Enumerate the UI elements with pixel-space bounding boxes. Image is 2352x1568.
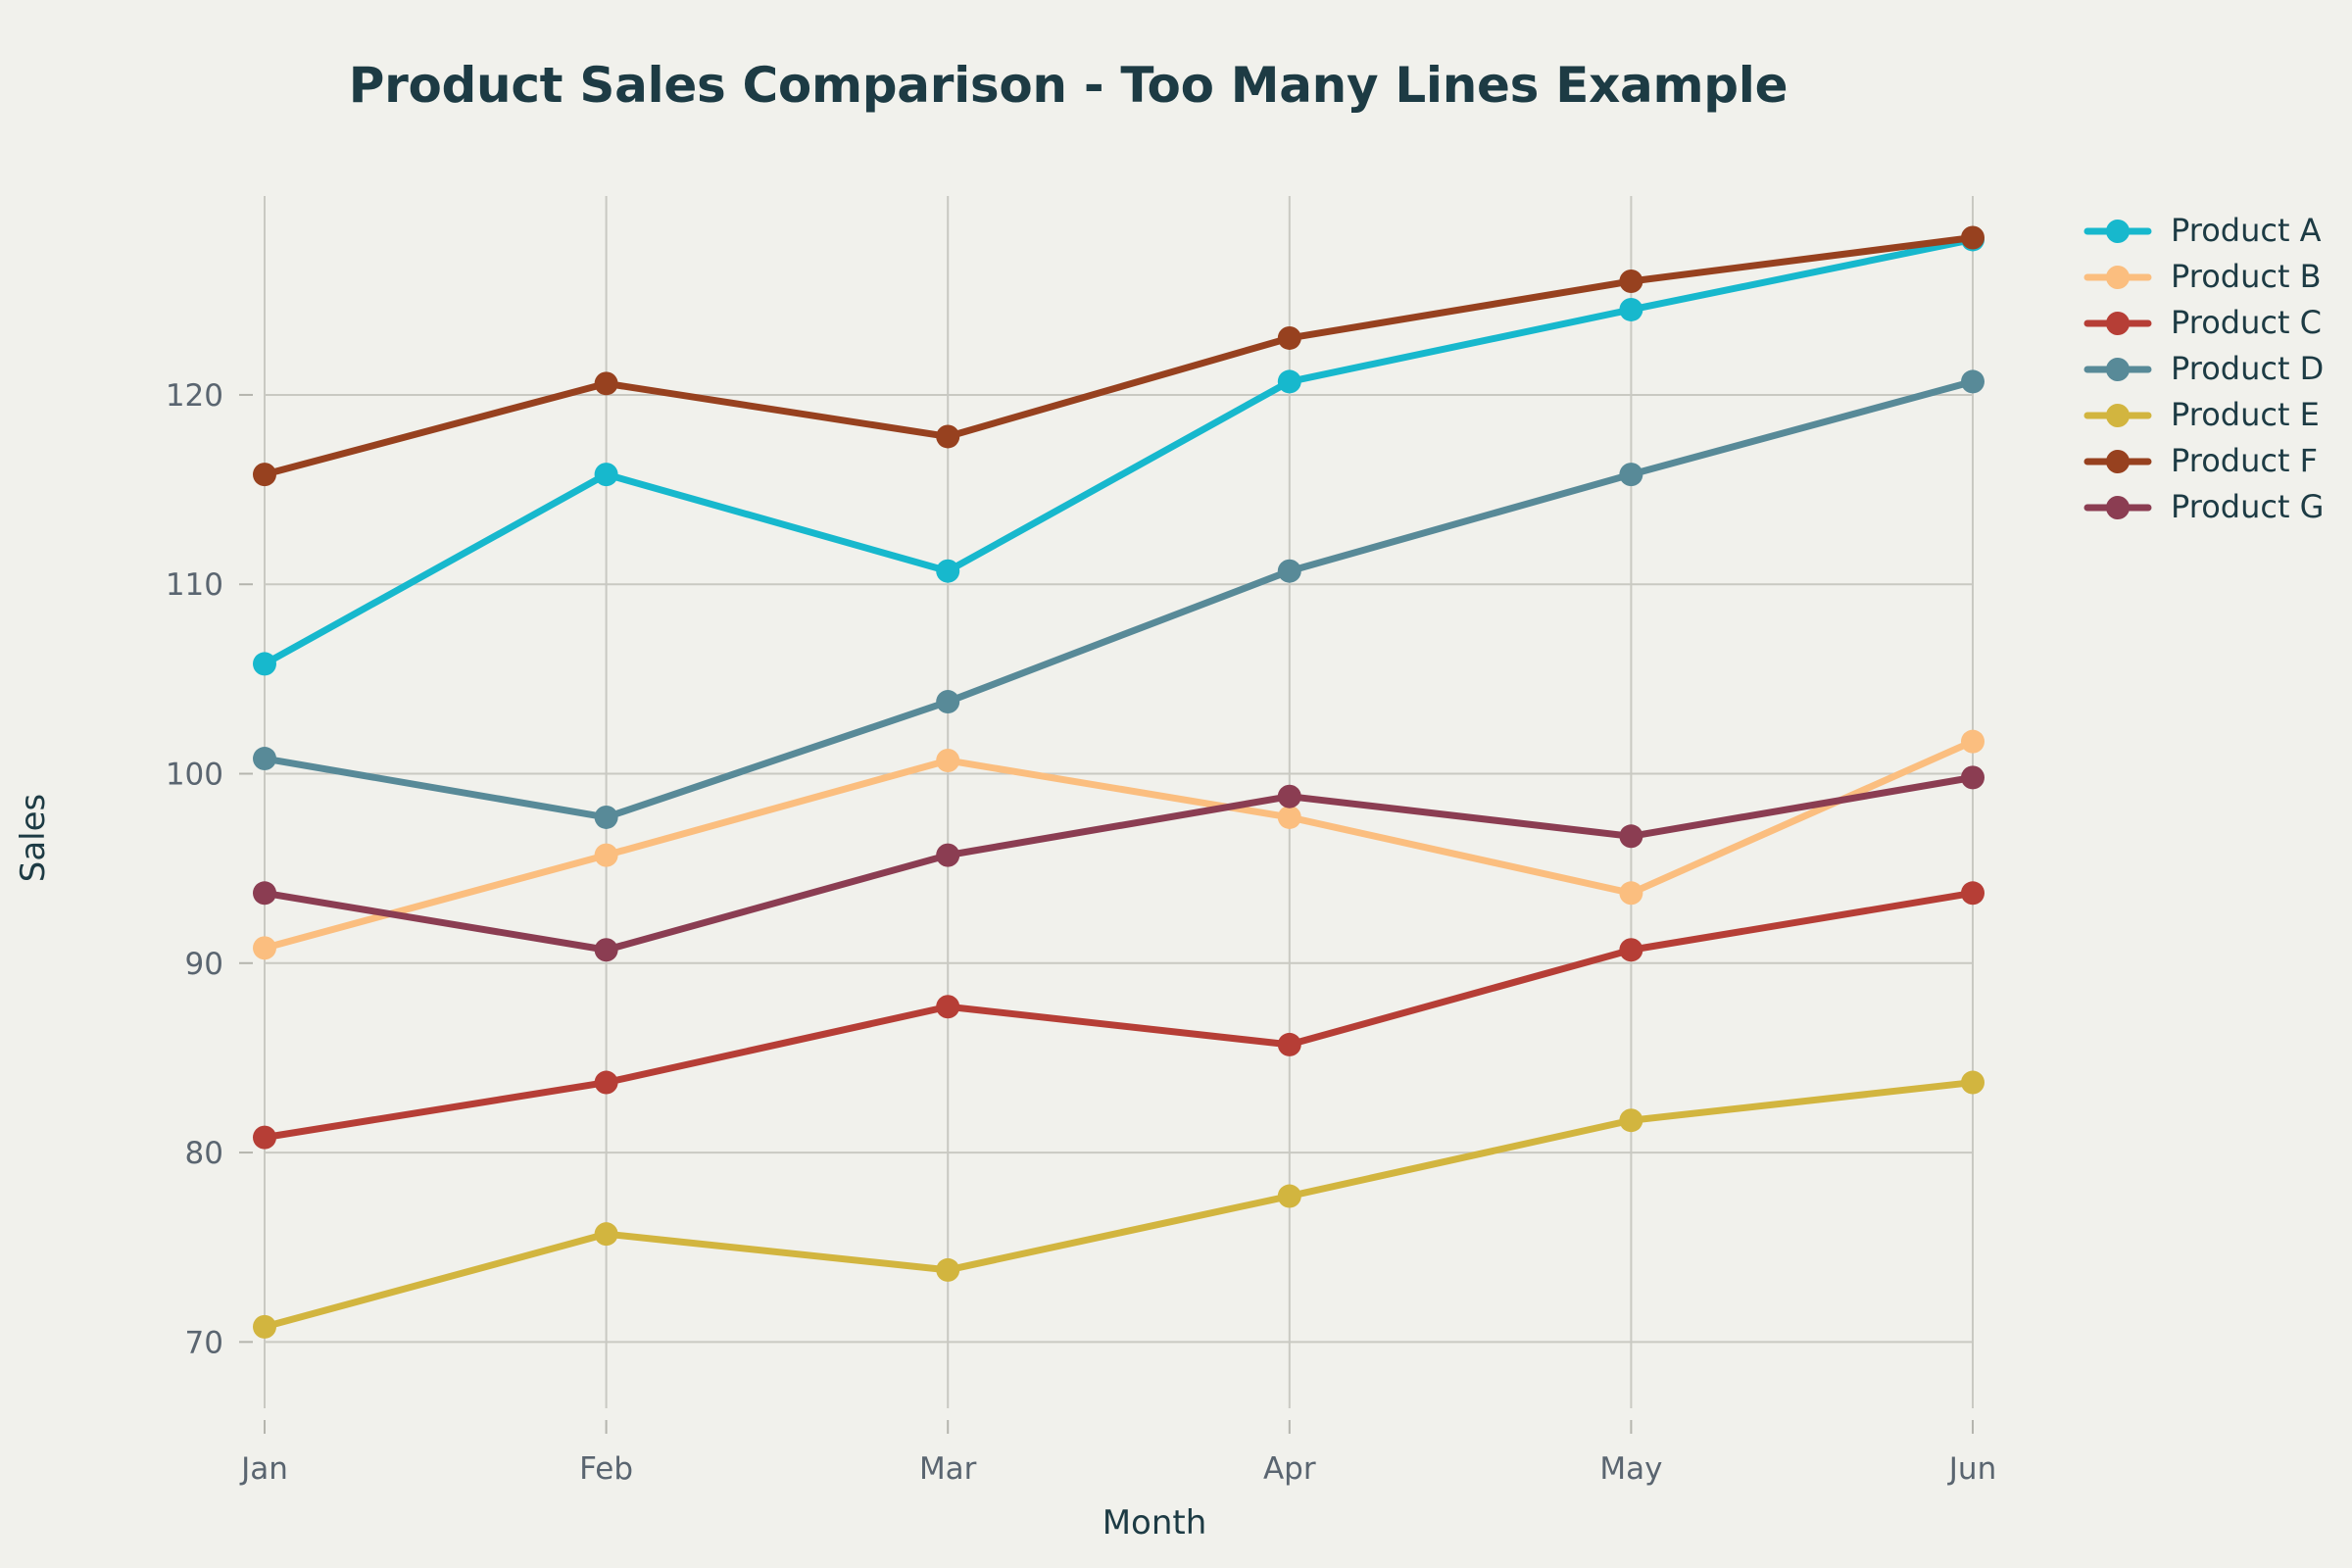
y-tick-label: 70	[185, 1325, 223, 1360]
data-point-marker[interactable]	[1619, 824, 1642, 848]
data-point-marker[interactable]	[1961, 765, 1984, 789]
legend-item-product-b[interactable]: Product B	[2087, 258, 2322, 295]
chart-legend: Product AProduct BProduct CProduct DProd…	[2087, 212, 2324, 525]
legend-label: Product F	[2171, 442, 2318, 479]
x-axis-ticks: JanFebMarAprMayJun	[239, 1420, 1996, 1487]
data-point-marker[interactable]	[253, 881, 276, 905]
legend-marker-swatch	[2106, 220, 2130, 243]
data-point-marker[interactable]	[1278, 1033, 1301, 1056]
data-point-marker[interactable]	[253, 936, 276, 959]
legend-marker-swatch	[2106, 358, 2130, 381]
data-point-marker[interactable]	[595, 1071, 618, 1095]
gridlines	[265, 395, 1973, 1342]
legend-label: Product A	[2171, 212, 2322, 249]
x-tick-label: Jan	[239, 1451, 288, 1487]
data-point-marker[interactable]	[253, 1315, 276, 1339]
data-point-marker[interactable]	[1961, 226, 1984, 250]
legend-item-product-e[interactable]: Product E	[2087, 396, 2320, 433]
data-point-marker[interactable]	[936, 749, 959, 772]
y-tick-label: 120	[166, 378, 223, 414]
series-product-e[interactable]	[253, 1071, 1984, 1339]
data-point-marker[interactable]	[595, 806, 618, 829]
data-point-marker[interactable]	[253, 463, 276, 486]
x-tick-label: Mar	[919, 1451, 977, 1487]
data-point-marker[interactable]	[1619, 463, 1642, 486]
line-chart-plot: 708090100110120 JanFebMarAprMayJun Produ…	[0, 0, 2352, 1568]
data-point-marker[interactable]	[595, 1222, 618, 1246]
data-point-marker[interactable]	[1278, 369, 1301, 393]
data-point-marker[interactable]	[1278, 326, 1301, 350]
legend-label: Product C	[2171, 304, 2322, 341]
x-tick-label: Feb	[579, 1451, 633, 1487]
legend-item-product-a[interactable]: Product A	[2087, 212, 2322, 249]
data-point-marker[interactable]	[1961, 1071, 1984, 1095]
legend-marker-swatch	[2106, 312, 2130, 335]
x-tick-label: May	[1599, 1451, 1662, 1487]
legend-label: Product G	[2171, 488, 2324, 525]
data-point-marker[interactable]	[1961, 730, 1984, 754]
legend-item-product-g[interactable]: Product G	[2087, 488, 2324, 525]
data-point-marker[interactable]	[1278, 785, 1301, 808]
y-tick-label: 110	[166, 567, 223, 603]
data-point-marker[interactable]	[936, 844, 959, 867]
data-point-marker[interactable]	[1619, 938, 1642, 961]
data-point-marker[interactable]	[1961, 881, 1984, 905]
data-point-marker[interactable]	[936, 1258, 959, 1282]
y-tick-label: 80	[185, 1136, 223, 1171]
y-tick-label: 90	[185, 947, 223, 982]
legend-item-product-d[interactable]: Product D	[2087, 350, 2324, 387]
data-point-marker[interactable]	[1619, 269, 1642, 293]
data-point-marker[interactable]	[1961, 369, 1984, 393]
x-tick-label: Jun	[1947, 1451, 1996, 1487]
x-axis-title: Month	[1102, 1503, 1207, 1543]
data-point-marker[interactable]	[1278, 560, 1301, 583]
legend-label: Product D	[2171, 350, 2324, 387]
data-point-marker[interactable]	[936, 560, 959, 583]
legend-marker-swatch	[2106, 266, 2130, 289]
data-point-marker[interactable]	[936, 690, 959, 713]
data-point-marker[interactable]	[595, 371, 618, 395]
legend-marker-swatch	[2106, 404, 2130, 427]
legend-item-product-c[interactable]: Product C	[2087, 304, 2322, 341]
data-point-marker[interactable]	[595, 844, 618, 867]
chart-figure: Product Sales Comparison - Too Many Line…	[0, 0, 2352, 1568]
series-line	[265, 1083, 1973, 1327]
data-point-marker[interactable]	[936, 995, 959, 1018]
legend-marker-swatch	[2106, 496, 2130, 519]
y-axis-title: Sales	[14, 794, 53, 883]
data-point-marker[interactable]	[253, 652, 276, 675]
series-product-b[interactable]	[253, 730, 1984, 960]
y-tick-label: 100	[166, 758, 223, 793]
data-point-marker[interactable]	[595, 463, 618, 486]
data-point-marker[interactable]	[936, 424, 959, 448]
data-point-marker[interactable]	[253, 1126, 276, 1150]
legend-marker-swatch	[2106, 450, 2130, 473]
legend-label: Product B	[2171, 258, 2322, 295]
series-line	[265, 238, 1973, 475]
legend-label: Product E	[2171, 396, 2320, 433]
data-point-marker[interactable]	[1619, 298, 1642, 321]
data-point-marker[interactable]	[1278, 806, 1301, 829]
data-series-group	[253, 226, 1984, 1339]
y-axis-ticks: 708090100110120	[166, 378, 253, 1360]
series-line	[265, 893, 1973, 1137]
data-point-marker[interactable]	[1619, 1108, 1642, 1132]
data-point-marker[interactable]	[1278, 1185, 1301, 1208]
data-point-marker[interactable]	[595, 938, 618, 961]
data-point-marker[interactable]	[253, 747, 276, 770]
series-line	[265, 742, 1973, 949]
data-point-marker[interactable]	[1619, 881, 1642, 905]
x-tick-label: Apr	[1263, 1451, 1316, 1487]
series-line	[265, 381, 1973, 817]
series-product-d[interactable]	[253, 369, 1984, 829]
legend-item-product-f[interactable]: Product F	[2087, 442, 2318, 479]
